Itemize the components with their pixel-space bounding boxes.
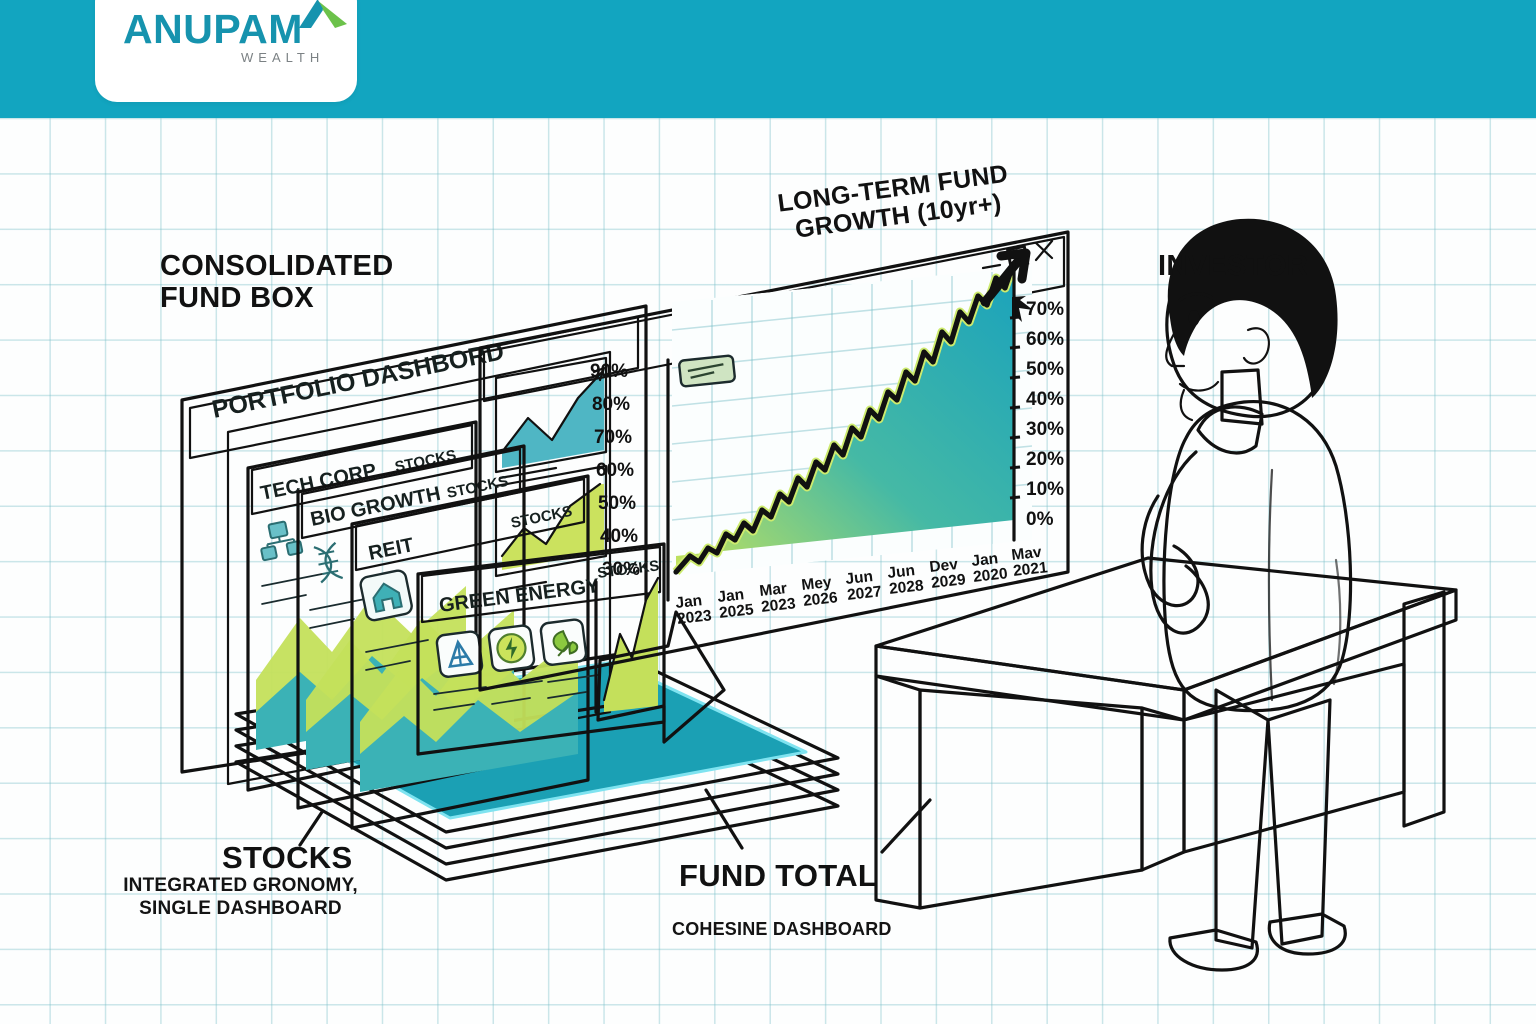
label-consolidated-fund-box: CONSOLIDATED FUND BOX bbox=[160, 250, 393, 315]
chart-y-tick-0: 0% bbox=[1026, 509, 1054, 530]
card-title-reit: REIT bbox=[367, 534, 416, 565]
chart-y-tick-50: 50% bbox=[1026, 359, 1064, 380]
chart-x-label-4: Jun2027 bbox=[845, 567, 883, 604]
label-consolidated-line2: FUND BOX bbox=[160, 282, 393, 314]
chart-y-tick-30: 30% bbox=[1026, 419, 1064, 440]
network-icon bbox=[257, 519, 303, 560]
chart-x-label-1: Jan2025 bbox=[717, 585, 755, 622]
label-consolidated-line1: CONSOLIDATED bbox=[160, 250, 393, 282]
y-tick-70: 70% bbox=[594, 427, 632, 448]
y-tick-50: 50% bbox=[598, 493, 636, 514]
chart-x-label-7: Jan2020 bbox=[971, 549, 1009, 586]
label-investor: INVESTOR bbox=[1158, 250, 1308, 282]
label-fund-total: FUND TOTAL bbox=[679, 859, 877, 894]
label-fund-total-subtitle: COHESINE DASHBOARD bbox=[672, 919, 902, 941]
chart-y-tick-10: 10% bbox=[1026, 479, 1064, 500]
chart-y-tick-20: 20% bbox=[1026, 449, 1064, 470]
y-tick-60: 60% bbox=[596, 460, 634, 481]
chart-x-label-5: Jun2028 bbox=[887, 561, 925, 598]
label-stocks-subtitle: INTEGRATED GRONOMY, SINGLE DASHBOARD bbox=[118, 875, 363, 921]
chart-y-tick-70: 70% bbox=[1026, 299, 1064, 320]
label-stocks-sub-line1: INTEGRATED GRONOMY, bbox=[118, 875, 363, 898]
mountain-a-icon bbox=[436, 631, 483, 678]
chart-x-label-3: Mey2026 bbox=[801, 573, 839, 610]
portfolio-dashboard-title: PORTFOLIO DASHBORD bbox=[210, 337, 507, 424]
chart-legend-chip bbox=[679, 355, 735, 387]
infographic-canvas: ANUPAM WEALTH bbox=[0, 0, 1536, 1024]
chart-x-label-2: Mar2023 bbox=[759, 579, 797, 616]
label-stocks-sub-line2: SINGLE DASHBOARD bbox=[118, 898, 363, 921]
close-icon bbox=[1036, 241, 1052, 260]
y-tick-40: 40% bbox=[600, 526, 638, 547]
house-icon bbox=[359, 569, 413, 621]
chart-x-label-6: Dev2029 bbox=[929, 555, 967, 592]
chart-y-tick-60: 60% bbox=[1026, 329, 1064, 350]
chart-x-label-8: Mav2021 bbox=[1011, 543, 1049, 580]
dna-icon bbox=[314, 543, 343, 583]
leaf-icon bbox=[540, 619, 587, 666]
chart-y-tick-40: 40% bbox=[1026, 389, 1064, 410]
lightning-bolt-icon bbox=[488, 625, 535, 672]
y-tick-80: 80% bbox=[592, 394, 630, 415]
chart-x-label-0: Jan2023 bbox=[675, 591, 713, 628]
label-stocks: STOCKS bbox=[222, 841, 352, 876]
